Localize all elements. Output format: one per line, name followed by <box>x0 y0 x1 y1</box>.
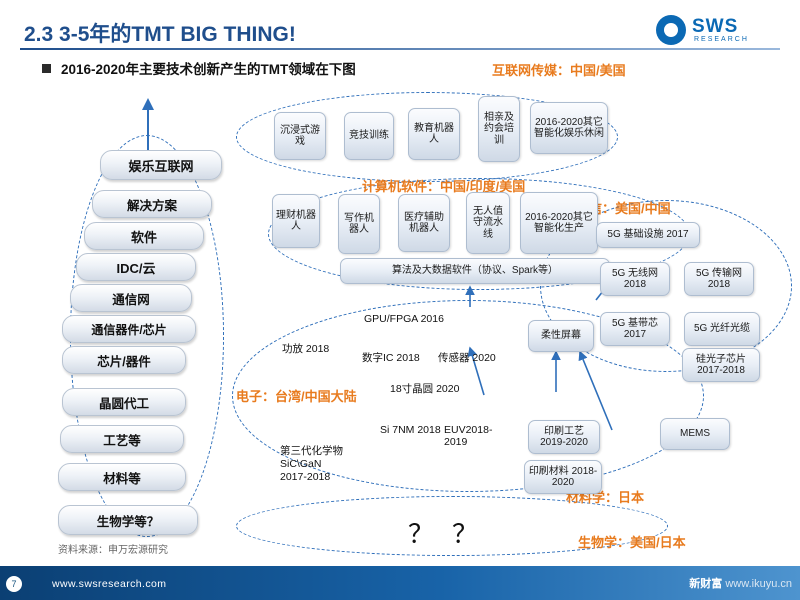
stair-item-10[interactable]: 生物学等？ <box>58 505 198 535</box>
page-number: 7 <box>6 576 22 592</box>
logo-text: SWS <box>692 16 738 38</box>
sws-logo: SWS RESEARCH <box>656 14 786 50</box>
node-5g-transport[interactable]: 5G 传输网 2018 <box>684 262 754 296</box>
group-label-biology: 生物学：美国/日本 <box>578 532 686 551</box>
group-label-internet-media: 互联网传媒：中国/美国 <box>492 60 626 79</box>
node-5g-fiber[interactable]: 5G 光纤光缆 <box>684 312 760 346</box>
node-label: 5G 基础设施 2017 <box>607 229 688 241</box>
stair-item-5[interactable]: 通信器件/芯片 <box>62 315 196 343</box>
group-label-electronics: 电子：台湾/中国大陆 <box>236 386 357 405</box>
stair-item-4[interactable]: 通信网 <box>70 284 192 312</box>
node-label: 5G 无线网 2018 <box>604 268 666 291</box>
node-label: 算法及大数据软件（协议、Spark等） <box>392 265 558 277</box>
label-si-7nm: Si 7NM 2018 <box>380 424 441 436</box>
node-unmanned-line[interactable]: 无人值守流水线 <box>466 192 510 254</box>
node-label: 理财机器人 <box>276 210 316 233</box>
node-medical-robot[interactable]: 医疗辅助机器人 <box>398 194 450 252</box>
node-dating-training[interactable]: 相亲及约会培训 <box>478 96 520 162</box>
stair-item-0[interactable]: 娱乐互联网 <box>100 150 222 180</box>
node-education-robot[interactable]: 教育机器人 <box>408 108 460 160</box>
bullet-square-icon <box>42 64 51 73</box>
node-immersive-game[interactable]: 沉浸式游戏 <box>274 112 326 160</box>
node-printing-process[interactable]: 印刷工艺2019-2020 <box>528 420 600 454</box>
node-writing-robot[interactable]: 写作机器人 <box>338 194 380 254</box>
node-label: 医疗辅助机器人 <box>402 212 446 235</box>
stair-label: 解决方案 <box>127 195 177 214</box>
source-note: 资料来源：申万宏源研究 <box>58 541 168 556</box>
stair-item-3[interactable]: IDC/云 <box>76 253 196 281</box>
node-5g-baseband[interactable]: 5G 基带芯 2017 <box>600 312 670 346</box>
logo-subtext: RESEARCH <box>694 36 749 43</box>
stair-label: 娱乐互联网 <box>128 156 193 175</box>
label-gpu-fpga: GPU/FPGA 2016 <box>364 313 444 325</box>
node-label: 2016-2020其它智能化生产 <box>524 212 594 235</box>
stair-label: 通信网 <box>112 289 150 308</box>
node-flexible-display[interactable]: 柔性屏幕 <box>528 320 594 352</box>
label-euv: EUV2018-2019 <box>444 424 500 448</box>
label-digital-ic: 数字IC 2018 <box>362 350 420 365</box>
page-title: 2.3 3-5年的TMT BIG THING! <box>24 18 296 48</box>
stair-label: 晶圆代工 <box>99 393 149 412</box>
stair-item-2[interactable]: 软件 <box>84 222 204 250</box>
node-silicon-photonics[interactable]: 硅光子芯片 2017-2018 <box>682 348 760 382</box>
stair-label: 软件 <box>131 227 157 246</box>
node-label: 5G 基带芯 2017 <box>604 318 666 341</box>
node-label: 印刷材料 2018-2020 <box>528 466 598 489</box>
node-label: MEMS <box>680 428 710 440</box>
stair-item-8[interactable]: 工艺等 <box>60 425 184 453</box>
stair-label: 芯片/器件 <box>97 351 150 370</box>
subtitle-text: 2016-2020年主要技术创新产生的TMT领域在下图 <box>61 58 356 78</box>
node-label: 硅光子芯片 2017-2018 <box>686 354 756 377</box>
node-mems[interactable]: MEMS <box>660 418 730 450</box>
label-18inch-wafer: 18寸晶圆 2020 <box>390 381 459 396</box>
stair-label: IDC/云 <box>116 258 155 277</box>
watermark-cn: 新财富 <box>689 578 722 590</box>
footer-url[interactable]: www.swsresearch.com <box>52 578 166 590</box>
node-esports-training[interactable]: 竞技训练 <box>344 112 394 160</box>
stair-item-6[interactable]: 芯片/器件 <box>62 346 186 374</box>
watermark-en: www.ikuyu.cn <box>725 578 792 590</box>
slide-root: 2.3 3-5年的TMT BIG THING! SWS RESEARCH 201… <box>0 0 800 600</box>
stair-item-9[interactable]: 材料等 <box>58 463 186 491</box>
logo-circle-icon <box>656 15 686 45</box>
node-printing-material[interactable]: 印刷材料 2018-2020 <box>524 460 602 494</box>
label-sensor: 传感器 2020 <box>438 350 496 365</box>
subtitle-bullet: 2016-2020年主要技术创新产生的TMT领域在下图 <box>42 58 356 78</box>
label-3rd-gen-compound: 第三代化学物SiC\GaN 2017-2018 <box>280 445 350 484</box>
stair-label: 材料等 <box>103 468 141 487</box>
node-5g-wireless[interactable]: 5G 无线网 2018 <box>600 262 670 296</box>
node-label: 5G 光纤光缆 <box>694 323 750 335</box>
node-label: 无人值守流水线 <box>470 206 506 241</box>
watermark: 新财富 www.ikuyu.cn <box>689 575 792 591</box>
stair-item-7[interactable]: 晶圆代工 <box>62 388 186 416</box>
node-label: 沉浸式游戏 <box>278 125 322 148</box>
node-algorithm-bigdata[interactable]: 算法及大数据软件（协议、Spark等） <box>340 258 610 284</box>
node-5g-infra[interactable]: 5G 基础设施 2017 <box>596 222 700 248</box>
stair-label: 生物学等？ <box>97 511 160 530</box>
node-other-smart-prod[interactable]: 2016-2020其它智能化生产 <box>520 192 598 254</box>
question-mark-1: ？ <box>408 514 434 551</box>
node-label: 柔性屏幕 <box>541 330 581 342</box>
node-label: 2016-2020其它智能化娱乐休闲 <box>534 117 604 140</box>
stair-label: 通信器件/芯片 <box>91 321 166 338</box>
node-finance-robot[interactable]: 理财机器人 <box>272 194 320 248</box>
question-mark-2: ？ <box>452 514 478 551</box>
node-label: 印刷工艺2019-2020 <box>532 426 596 449</box>
node-label: 5G 传输网 2018 <box>688 268 750 291</box>
node-label: 竞技训练 <box>349 130 389 142</box>
node-other-entertain[interactable]: 2016-2020其它智能化娱乐休闲 <box>530 102 608 154</box>
node-label: 相亲及约会培训 <box>482 112 516 147</box>
node-label: 写作机器人 <box>342 213 376 236</box>
stair-item-1[interactable]: 解决方案 <box>92 190 212 218</box>
stair-label: 工艺等 <box>103 430 141 449</box>
label-pa: 功放 2018 <box>282 341 329 356</box>
node-label: 教育机器人 <box>412 123 456 146</box>
